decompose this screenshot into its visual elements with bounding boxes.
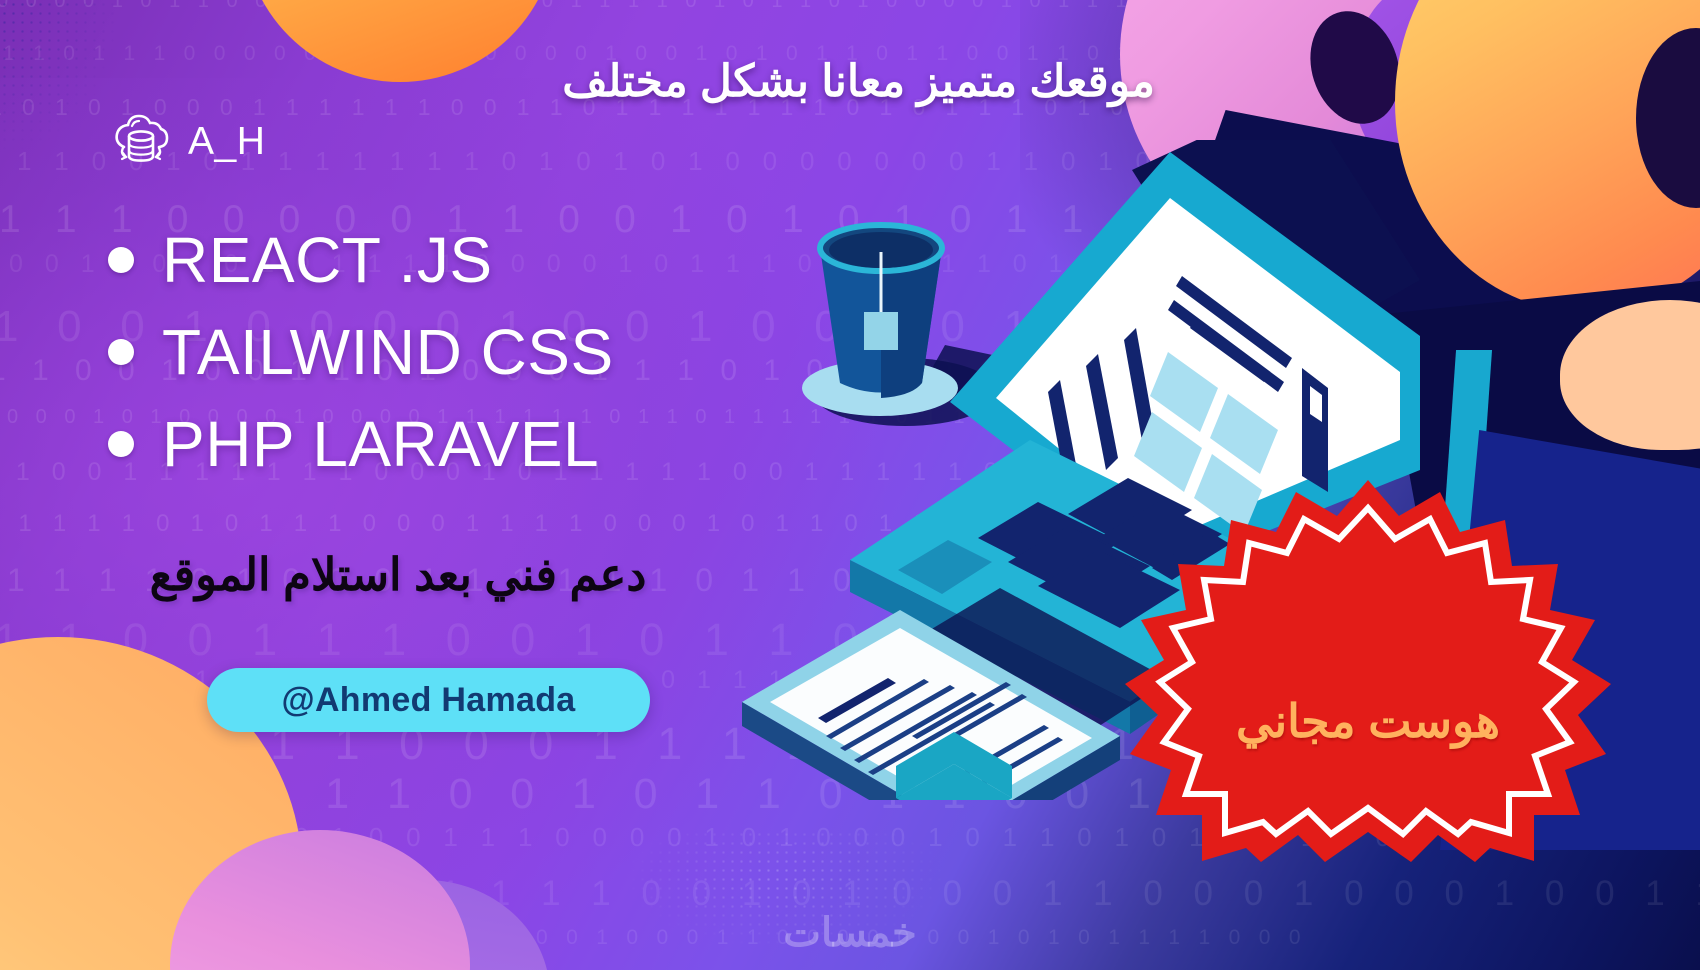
bullet-icon [108,339,134,365]
feature-label: TAILWIND CSS [162,320,614,384]
free-hosting-label: هوست مجاني [1108,462,1628,862]
list-item: TAILWIND CSS [108,306,614,398]
brand-name: A_H [188,122,265,161]
contact-handle-button[interactable]: @Ahmed Hamada [207,668,650,732]
feature-label: PHP LARAVEL [162,412,599,476]
contact-handle-label: @Ahmed Hamada [281,681,575,720]
feature-label: REACT .JS [162,228,493,292]
bullet-icon [108,431,134,457]
promo-banner: 0 0 0 0 1 0 1 1 0 0 1 1 0 0 1 0 0 0 0 0 … [0,0,1700,970]
bullet-icon [108,247,134,273]
watermark: خمسات [0,910,1700,956]
subtitle: دعم فني بعد استلام الموقع [78,548,718,601]
cloud-database-icon [110,112,172,170]
list-item: PHP LARAVEL [108,398,614,490]
list-item: REACT .JS [108,214,614,306]
teabag-tag [864,312,898,350]
headline: موقعك متميز معانا بشكل مختلف [562,56,1155,107]
free-hosting-badge: هوست مجاني [1108,462,1628,862]
feature-list: REACT .JS TAILWIND CSS PHP LARAVEL [108,214,614,490]
brand-logo: A_H [110,112,265,170]
